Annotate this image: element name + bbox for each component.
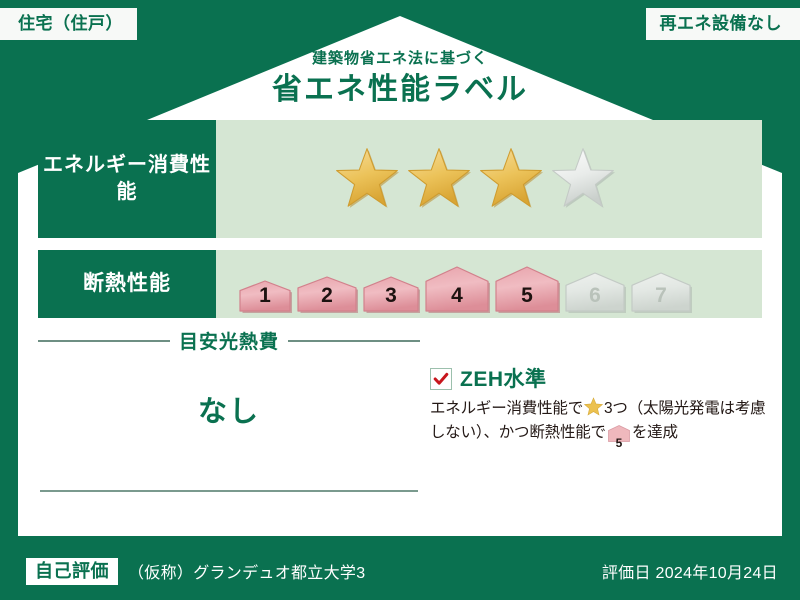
star-icon-filled bbox=[406, 146, 472, 212]
zeh-checkbox bbox=[430, 368, 452, 390]
insulation-level-number: 6 bbox=[564, 285, 626, 306]
insulation-level-4: 4 bbox=[424, 265, 490, 313]
building-name: （仮称）グランデュオ都立大学3 bbox=[128, 559, 365, 583]
house-icon-inline-number: 5 bbox=[608, 437, 630, 449]
insulation-level-3: 3 bbox=[362, 275, 420, 313]
utility-cost-bottom-rule bbox=[40, 490, 418, 492]
star-icon-filled bbox=[334, 146, 400, 212]
evaluation-type-badge: 自己評価 bbox=[26, 558, 118, 585]
zeh-description: エネルギー消費性能で3つ（太陽光発電は考慮しない）、かつ断熱性能で5を達成 bbox=[430, 397, 770, 450]
check-icon bbox=[433, 371, 449, 387]
row-energy-performance: エネルギー消費性能 bbox=[38, 120, 762, 238]
zeh-title: ZEH水準 bbox=[460, 369, 547, 390]
insulation-performance-label: 断熱性能 bbox=[38, 250, 216, 318]
star-icon-filled bbox=[478, 146, 544, 212]
zeh-desc-part1: エネルギー消費性能で bbox=[430, 400, 583, 417]
insulation-level-1: 1 bbox=[238, 279, 292, 313]
zeh-desc-part3: を達成 bbox=[632, 424, 678, 441]
zeh-heading: ZEH水準 bbox=[430, 368, 770, 390]
star-icon-inline bbox=[584, 397, 603, 416]
insulation-level-number: 5 bbox=[494, 285, 560, 306]
row-insulation-performance: 断熱性能 1234567 bbox=[38, 250, 762, 318]
insulation-level-scale: 1234567 bbox=[238, 250, 692, 318]
label-footer: 自己評価 （仮称）グランデュオ都立大学3 評価日 2024年10月24日 bbox=[0, 542, 800, 600]
insulation-level-5: 5 bbox=[494, 265, 560, 313]
insulation-level-6: 6 bbox=[564, 271, 626, 313]
energy-performance-label: エネルギー消費性能 bbox=[38, 120, 216, 238]
zeh-standard-block: ZEH水準 エネルギー消費性能で3つ（太陽光発電は考慮しない）、かつ断熱性能で5… bbox=[430, 368, 770, 450]
insulation-level-number: 3 bbox=[362, 285, 420, 306]
insulation-level-7: 7 bbox=[630, 271, 692, 313]
house-icon-inline: 5 bbox=[608, 425, 630, 450]
insulation-level-number: 7 bbox=[630, 285, 692, 306]
insulation-level-number: 2 bbox=[296, 285, 358, 306]
utility-cost-heading: 目安光熱費 bbox=[38, 327, 420, 354]
insulation-performance-body: 1234567 bbox=[216, 250, 762, 318]
tag-renewable-equipment: 再エネ設備なし bbox=[646, 8, 800, 40]
evaluation-date-value: 2024年10月24日 bbox=[656, 565, 779, 582]
insulation-level-number: 1 bbox=[238, 285, 292, 306]
insulation-level-2: 2 bbox=[296, 275, 358, 313]
tag-building-type: 住宅（住戸） bbox=[0, 8, 137, 40]
utility-cost-value: なし bbox=[38, 388, 420, 430]
evaluation-date: 評価日 2024年10月24日 bbox=[602, 559, 778, 583]
heading-rule-right bbox=[288, 340, 420, 342]
heading-rule-left bbox=[38, 340, 170, 342]
energy-performance-body bbox=[216, 120, 762, 238]
evaluation-date-label: 評価日 bbox=[602, 565, 651, 582]
star-rating bbox=[334, 146, 616, 212]
star-icon-empty bbox=[550, 146, 616, 212]
energy-label-root: 住宅（住戸） 再エネ設備なし 建築物省エネ法に基づく 省エネ性能ラベル エネルギ… bbox=[0, 0, 800, 600]
insulation-level-number: 4 bbox=[424, 285, 490, 306]
utility-cost-label: 目安光熱費 bbox=[179, 327, 279, 354]
